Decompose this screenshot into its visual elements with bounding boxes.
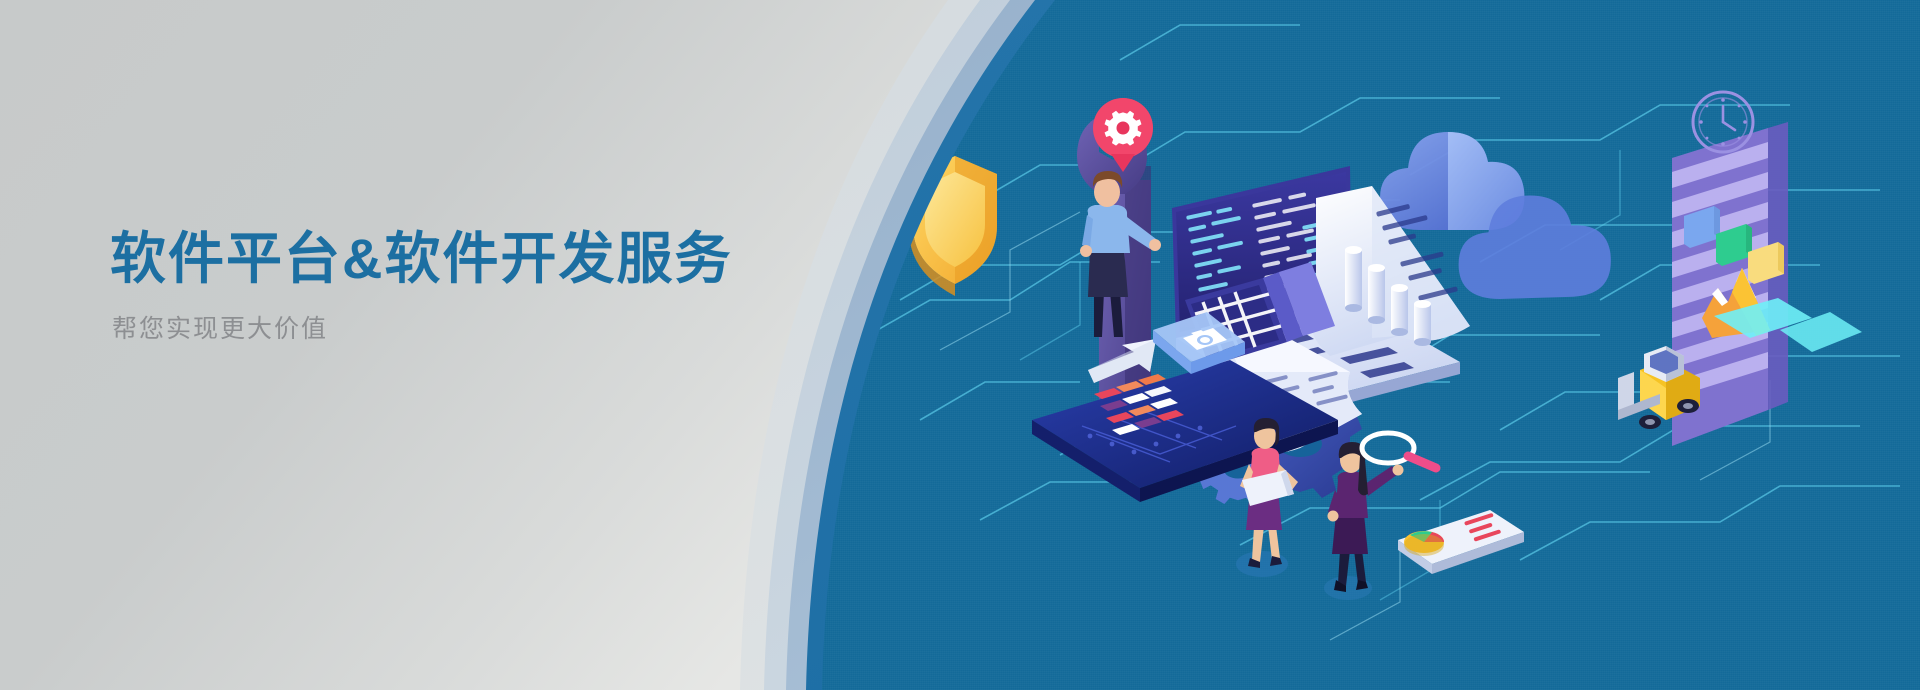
page-title: 软件平台&软件开发服务: [110, 214, 732, 295]
hero-banner: 软件平台&软件开发服务 帮您实现更大价值: [0, 0, 1920, 690]
page-subtitle: 帮您实现更大价值: [112, 309, 328, 345]
left-gray-panel: [0, 0, 1920, 690]
